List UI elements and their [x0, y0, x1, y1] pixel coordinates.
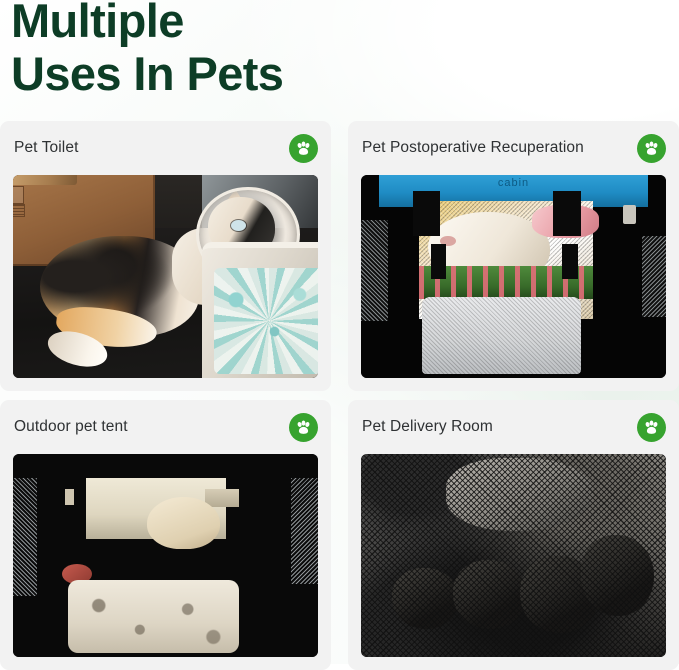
carrier-brand-text: cabin	[361, 177, 666, 189]
paw-icon	[289, 134, 318, 163]
use-case-card-grid: Pet Toilet	[0, 121, 679, 670]
use-case-card-pet-postoperative-recuperation[interactable]: Pet Postoperative Recuperation cabin	[348, 121, 679, 391]
card-title: Outdoor pet tent	[14, 418, 128, 436]
card-title: Pet Delivery Room	[362, 418, 493, 436]
paw-icon	[289, 413, 318, 442]
page-title: Multiple Uses In Pets	[11, 0, 571, 100]
paw-icon	[637, 134, 666, 163]
card-title: Pet Postoperative Recuperation	[362, 139, 584, 157]
use-case-card-pet-delivery-room[interactable]: Pet Delivery Room	[348, 400, 679, 670]
card-header: Pet Delivery Room	[348, 400, 679, 454]
card-photo-pet-postoperative-recuperation: cabin	[361, 175, 666, 378]
use-case-card-outdoor-pet-tent[interactable]: Outdoor pet tent	[0, 400, 331, 670]
page-title-line-1: Multiple	[11, 0, 571, 47]
card-title: Pet Toilet	[14, 139, 78, 157]
card-header: Outdoor pet tent	[0, 400, 331, 454]
page-background: Multiple Uses In Pets Pet Toilet	[0, 0, 679, 664]
use-case-card-pet-toilet[interactable]: Pet Toilet	[0, 121, 331, 391]
card-photo-pet-delivery-room	[361, 454, 666, 657]
card-header: Pet Postoperative Recuperation	[348, 121, 679, 175]
paw-icon	[637, 413, 666, 442]
card-header: Pet Toilet	[0, 121, 331, 175]
card-photo-pet-toilet	[13, 175, 318, 378]
page-title-line-2: Uses In Pets	[11, 47, 571, 100]
card-photo-outdoor-pet-tent	[13, 454, 318, 657]
